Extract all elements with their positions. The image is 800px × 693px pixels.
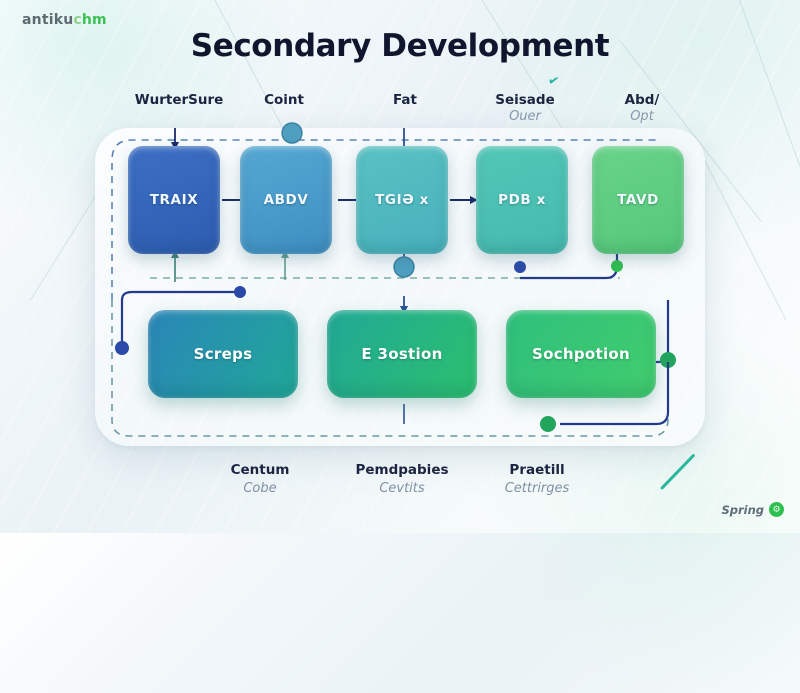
- brand-logo: antikuchm: [22, 12, 107, 28]
- top-label-4: Abd/ Opt: [572, 92, 712, 126]
- spring-badge[interactable]: Spring ⚙: [721, 502, 784, 517]
- page-title: Secondary Development: [0, 28, 800, 64]
- bottom-label-0: Centum Cobe: [180, 462, 340, 497]
- module-node-0[interactable]: Screps: [148, 310, 298, 398]
- top-label-1: Coint: [214, 92, 354, 109]
- bottom-label-2-primary: Praetill: [457, 462, 617, 480]
- top-label-1-primary: Coint: [214, 92, 354, 109]
- top-label-2: Fat: [335, 92, 475, 109]
- process-node-1[interactable]: ABDV: [240, 146, 332, 254]
- process-node-0-label: TRAIX: [150, 192, 198, 208]
- bottom-label-2: Praetill Cettrirges: [457, 462, 617, 497]
- module-node-1-label: E 3ostion: [361, 345, 442, 363]
- brand-logo-part3: hm: [82, 12, 107, 28]
- top-label-4-primary: Abd/: [572, 92, 712, 109]
- module-node-0-label: Screps: [194, 345, 253, 363]
- bottom-label-0-primary: Centum: [180, 462, 340, 480]
- bottom-label-2-secondary: Cettrirges: [457, 480, 617, 498]
- process-node-2-label: TGIƏ x: [375, 192, 429, 208]
- process-node-1-label: ABDV: [264, 192, 309, 208]
- module-node-1[interactable]: E 3ostion: [327, 310, 477, 398]
- process-node-0[interactable]: TRAIX: [128, 146, 220, 254]
- module-node-2-label: Sochpotion: [532, 345, 630, 363]
- module-node-2[interactable]: Sochpotion: [506, 310, 656, 398]
- process-node-3[interactable]: PDB x: [476, 146, 568, 254]
- process-node-3-label: PDB x: [498, 192, 546, 208]
- process-node-2[interactable]: TGIƏ x: [356, 146, 448, 254]
- top-label-2-primary: Fat: [335, 92, 475, 109]
- process-node-4[interactable]: TAVD: [592, 146, 684, 254]
- process-node-4-label: TAVD: [617, 192, 659, 208]
- bottom-label-0-secondary: Cobe: [180, 480, 340, 498]
- spring-badge-label: Spring: [721, 503, 764, 517]
- spring-leaf-icon: ⚙: [769, 502, 784, 517]
- top-label-4-secondary: Opt: [572, 109, 712, 126]
- brand-logo-part2: c: [73, 12, 82, 28]
- brand-logo-part1: antiku: [22, 12, 73, 28]
